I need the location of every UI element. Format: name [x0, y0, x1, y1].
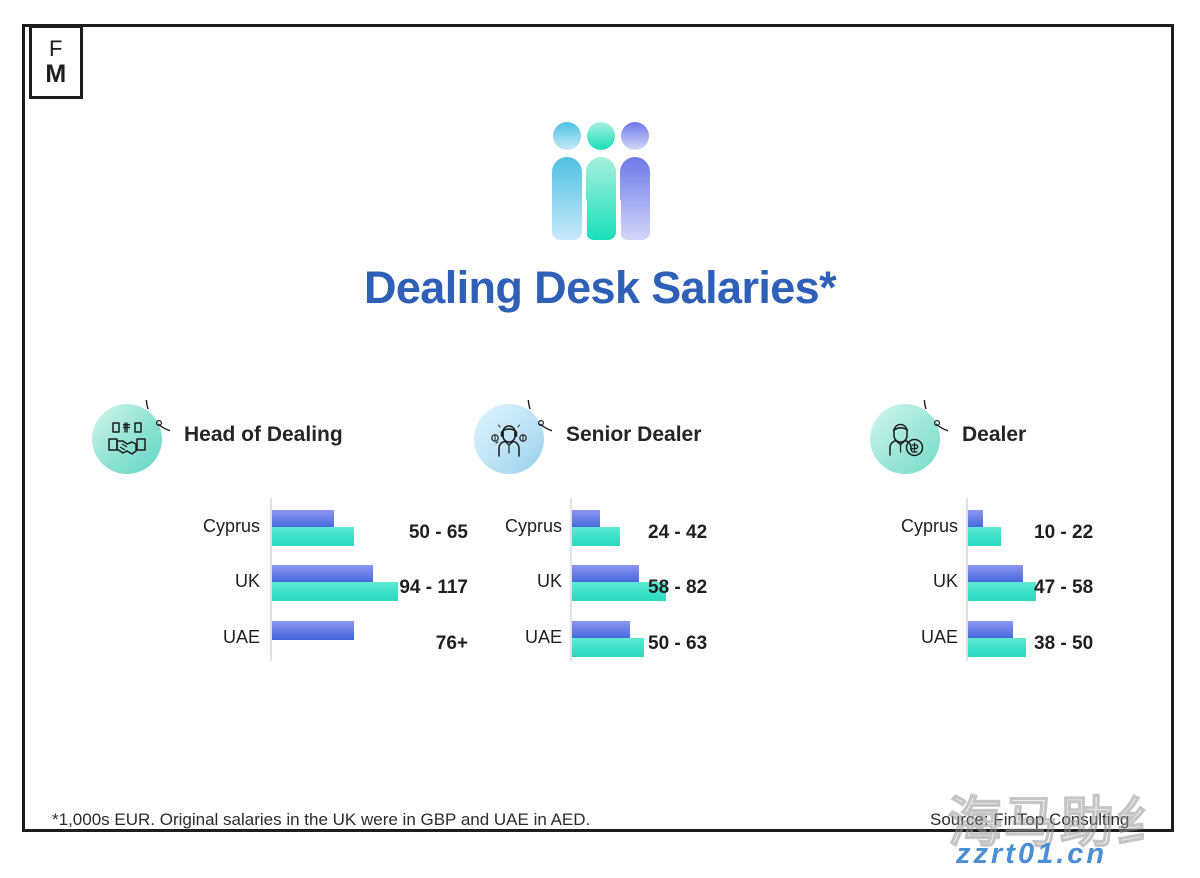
fm-logo-line-2: M — [45, 62, 66, 87]
role-title: Dealer — [962, 423, 1026, 447]
role-title: Senior Dealer — [566, 423, 701, 447]
bar-chart: Cyprus 10 - 22 UK 47 - 58 UAE 38 - 50 — [866, 498, 1186, 673]
salary-group-senior-dealer: Senior Dealer Cyprus 24 - 42 UK 58 - 82 … — [470, 398, 830, 673]
bar-high — [968, 582, 1036, 601]
fm-logo: F M — [29, 25, 83, 99]
category-label: UK — [88, 571, 260, 592]
group-header: Dealer — [866, 398, 1186, 486]
chart-row: Cyprus 10 - 22 — [866, 506, 1186, 558]
footnote-text: *1,000s EUR. Original salaries in the UK… — [52, 810, 590, 830]
page-title: Dealing Desk Salaries* — [0, 262, 1200, 314]
three-people-icon — [540, 120, 662, 245]
value-label: 58 - 82 — [648, 577, 758, 599]
dealer-coin-icon — [884, 418, 926, 460]
bar-high — [968, 638, 1026, 657]
category-label: UK — [390, 571, 562, 592]
group-header: Head of Dealing — [88, 398, 448, 486]
category-label: UAE — [390, 627, 562, 648]
bar-high — [572, 527, 620, 546]
category-label: Cyprus — [390, 516, 562, 537]
chart-row: UK 58 - 82 — [470, 561, 830, 613]
value-label: 10 - 22 — [1034, 522, 1144, 544]
chart-row: UAE 38 - 50 — [866, 617, 1186, 669]
category-label: UAE — [88, 627, 260, 648]
category-label: Cyprus — [88, 516, 260, 537]
category-label: UK — [786, 571, 958, 592]
source-text: Source: FinTop Consulting — [930, 810, 1129, 830]
bar-chart: Cyprus 24 - 42 UK 58 - 82 UAE 50 - 63 — [470, 498, 830, 673]
category-label: UAE — [786, 627, 958, 648]
value-label: 24 - 42 — [648, 522, 758, 544]
bar-high — [968, 527, 1001, 546]
chart-row: UAE 50 - 63 — [470, 617, 830, 669]
value-label: 47 - 58 — [1034, 577, 1144, 599]
dealer-headset-icon — [488, 418, 530, 460]
fm-logo-line-1: F — [49, 38, 63, 60]
value-label: 38 - 50 — [1034, 633, 1144, 655]
category-label: Cyprus — [786, 516, 958, 537]
value-label: 50 - 63 — [648, 633, 758, 655]
role-title: Head of Dealing — [184, 423, 343, 447]
bar-high — [572, 638, 644, 657]
group-header: Senior Dealer — [470, 398, 830, 486]
chart-row: UK 47 - 58 — [866, 561, 1186, 613]
handshake-money-icon — [106, 418, 148, 460]
infographic-canvas: F M — [0, 0, 1200, 878]
salary-group-dealer: Dealer Cyprus 10 - 22 UK 47 - 58 UAE 38 … — [866, 398, 1186, 673]
watermark-url: zzrt01.cn — [956, 838, 1107, 871]
chart-row: Cyprus 24 - 42 — [470, 506, 830, 558]
